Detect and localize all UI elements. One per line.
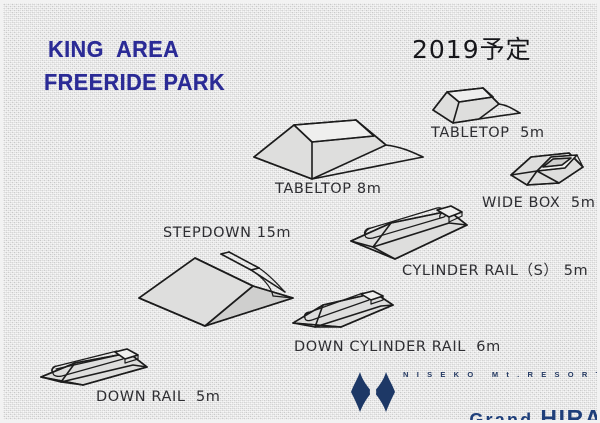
tabletop-8m-label: TABELTOP 8m bbox=[275, 181, 381, 197]
down-cylinder-rail-6m-label: DOWN CYLINDER RAIL 6m bbox=[294, 339, 501, 355]
cylinder-rail-s-5m-illustration bbox=[345, 203, 475, 265]
logo-name-grand: Grand bbox=[469, 410, 533, 423]
page-title-line1: KING AREA bbox=[48, 36, 179, 63]
wide-box-5m-label: WIDE BOX 5m bbox=[482, 195, 595, 211]
tabletop-8m-illustration bbox=[246, 107, 431, 183]
cylinder-rail-s-5m-label: CYLINDER RAIL（S） 5m bbox=[402, 259, 588, 280]
grand-hirafu-logo: N I S E K O M t . R E S O R T GrandHIRAF… bbox=[351, 369, 591, 415]
logo-name: GrandHIRAFU bbox=[401, 381, 600, 423]
stepdown-15m-label: STEPDOWN 15m bbox=[163, 225, 291, 241]
logo-name-hirafu: HIRAFU bbox=[540, 405, 600, 423]
page-title-line2: FREERIDE PARK bbox=[44, 69, 225, 96]
tabletop-5m-illustration bbox=[417, 79, 527, 127]
tabletop-5m-label: TABLETOP 5m bbox=[431, 125, 545, 141]
down-rail-5m-label: DOWN RAIL 5m bbox=[96, 389, 221, 405]
year-note: 2019予定 bbox=[412, 30, 532, 66]
butterfly-mark-icon bbox=[351, 371, 395, 413]
logo-tagline: N I S E K O M t . R E S O R T bbox=[403, 370, 600, 379]
poster-canvas: KING AREA FREERIDE PARK 2019予定 TABLETOP … bbox=[3, 3, 597, 420]
wide-box-5m-illustration bbox=[503, 145, 589, 189]
down-cylinder-rail-6m-illustration bbox=[289, 291, 413, 339]
down-rail-5m-illustration bbox=[37, 347, 167, 393]
park-map-poster: KING AREA FREERIDE PARK 2019予定 TABLETOP … bbox=[0, 0, 600, 423]
